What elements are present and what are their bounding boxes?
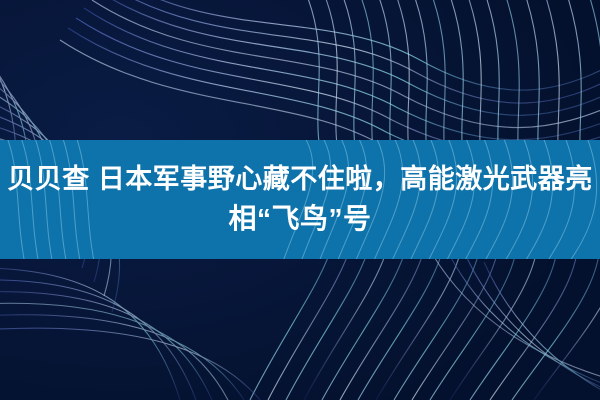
headline-line-2: 相“飞鸟”号: [0, 199, 600, 238]
news-banner: 贝贝查 日本军事野心藏不住啦，高能激光武器亮 相“飞鸟”号: [0, 0, 600, 400]
headline-text-block: 贝贝查 日本军事野心藏不住啦，高能激光武器亮 相“飞鸟”号: [0, 160, 600, 238]
headline-line-1: 贝贝查 日本军事野心藏不住啦，高能激光武器亮: [0, 160, 600, 199]
